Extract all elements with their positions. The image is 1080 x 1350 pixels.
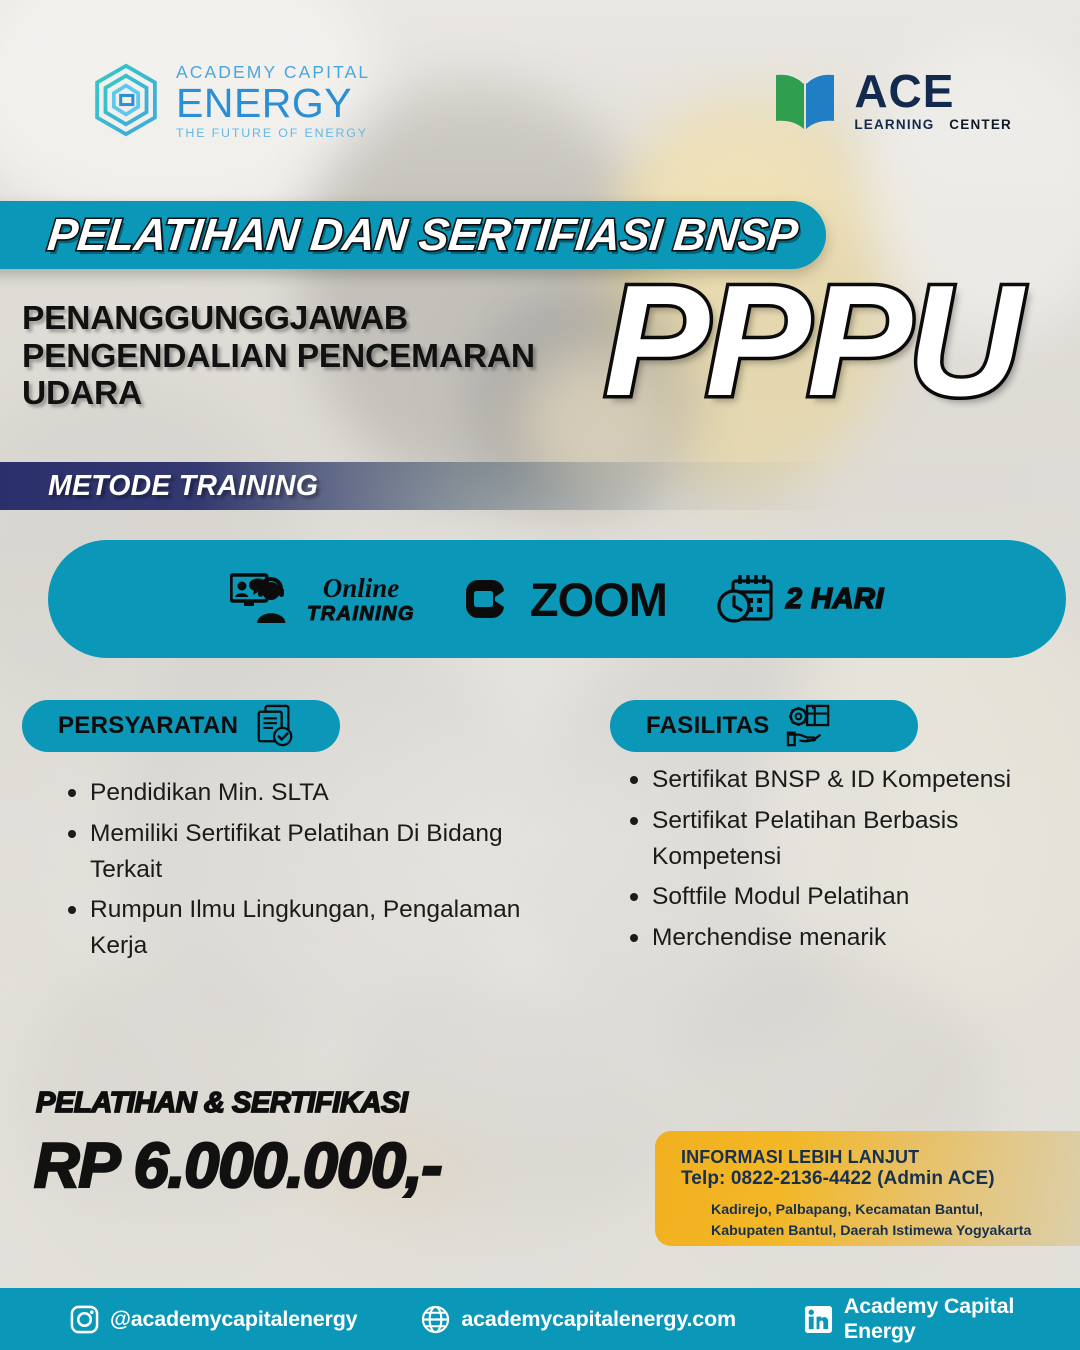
info-address: Kadirejo, Palbapang, Kecamatan Bantul, K… bbox=[681, 1200, 1066, 1241]
ace-wordmark: ACE bbox=[854, 68, 1012, 114]
contact-info-box: INFORMASI LEBIH LANJUT Telp: 0822-2136-4… bbox=[655, 1131, 1080, 1246]
website-url: academycapitalenergy.com bbox=[461, 1307, 735, 1332]
persyaratan-title: PERSYARATAN bbox=[58, 712, 238, 740]
zoom-camera-icon bbox=[465, 577, 519, 621]
fasilitas-header: FASILITAS bbox=[610, 700, 918, 752]
fasilitas-title: FASILITAS bbox=[646, 712, 770, 740]
info-heading: INFORMASI LEBIH LANJUT bbox=[681, 1147, 1066, 1168]
course-acronym: PPPU bbox=[604, 262, 1018, 420]
online-label: Online bbox=[323, 575, 400, 602]
logo-tagline: THE FUTURE OF ENERGY bbox=[176, 127, 370, 139]
price-amount: RP 6.000.000,- bbox=[34, 1130, 441, 1202]
method-pill: Online TRAINING ZOOM bbox=[48, 540, 1066, 658]
hand-gift-gear-icon bbox=[786, 704, 832, 748]
instagram-handle: @academycapitalenergy bbox=[110, 1307, 357, 1332]
globe-icon bbox=[421, 1305, 450, 1334]
academy-capital-energy-logo: ACADEMY CAPITAL ENERGY THE FUTURE OF ENE… bbox=[88, 62, 370, 139]
linkedin-icon bbox=[804, 1305, 833, 1334]
list-item: Sertifikat BNSP & ID Kompetensi bbox=[618, 762, 1080, 798]
instagram-icon bbox=[70, 1305, 99, 1334]
list-item: Merchendise menarik bbox=[618, 920, 1080, 956]
ace-sub-center: CENTER bbox=[949, 117, 1012, 132]
duration-label: 2 HARI bbox=[786, 583, 884, 616]
logo-line-2: ENERGY bbox=[176, 83, 370, 124]
metode-training-bar: METODE TRAINING bbox=[0, 462, 1080, 510]
poster-canvas: ACADEMY CAPITAL ENERGY THE FUTURE OF ENE… bbox=[0, 0, 1080, 1350]
list-item: Pendidikan Min. SLTA bbox=[56, 775, 556, 811]
logo-line-1: ACADEMY CAPITAL bbox=[176, 64, 370, 82]
hexagon-maze-icon bbox=[88, 62, 164, 138]
metode-training-label: METODE TRAINING bbox=[48, 470, 318, 503]
method-duration: 2 HARI bbox=[717, 573, 884, 625]
footer-linkedin[interactable]: Academy Capital Energy bbox=[804, 1294, 1080, 1344]
list-item: Sertifikat Pelatihan Berbasis Kompetensi bbox=[618, 803, 1080, 875]
persyaratan-header: PERSYARATAN bbox=[22, 700, 340, 752]
list-item: Softfile Modul Pelatihan bbox=[618, 879, 1080, 915]
method-zoom: ZOOM bbox=[465, 572, 667, 627]
ace-learning-center-logo: ACE LEARNING CENTER bbox=[770, 68, 1012, 132]
list-item: Memiliki Sertifikat Pelatihan Di Bidang … bbox=[56, 816, 556, 888]
info-phone: Telp: 0822-2136-4422 (Admin ACE) bbox=[681, 1168, 1066, 1191]
online-training-icon bbox=[230, 573, 296, 625]
method-online-training: Online TRAINING bbox=[230, 573, 415, 625]
logo-row: ACADEMY CAPITAL ENERGY THE FUTURE OF ENE… bbox=[0, 0, 1080, 180]
document-check-icon bbox=[254, 704, 296, 748]
price-label: PELATIHAN & SERTIFIKASI bbox=[36, 1087, 408, 1120]
ace-sub-learning: LEARNING bbox=[854, 117, 934, 132]
footer-instagram[interactable]: @academycapitalenergy bbox=[70, 1305, 357, 1334]
address-line-1: Kadirejo, Palbapang, Kecamatan Bantul, bbox=[711, 1200, 1066, 1221]
persyaratan-list: Pendidikan Min. SLTA Memiliki Sertifikat… bbox=[56, 775, 556, 969]
zoom-label: ZOOM bbox=[530, 572, 667, 627]
footer-bar: @academycapitalenergy academycapitalener… bbox=[0, 1288, 1080, 1350]
open-book-icon bbox=[770, 69, 840, 131]
list-item: Rumpun Ilmu Lingkungan, Pengalaman Kerja bbox=[56, 892, 556, 964]
footer-website[interactable]: academycapitalenergy.com bbox=[421, 1305, 735, 1334]
fasilitas-list: Sertifikat BNSP & ID Kompetensi Sertifik… bbox=[618, 762, 1080, 961]
course-subtitle: PENANGGUNGGJAWAB PENGENDALIAN PENCEMARAN… bbox=[22, 300, 622, 413]
calendar-clock-icon bbox=[717, 573, 775, 625]
training-label: TRAINING bbox=[307, 604, 415, 624]
address-line-2: Kabupaten Bantul, Daerah Istimewa Yogyak… bbox=[711, 1221, 1066, 1242]
linkedin-name: Academy Capital Energy bbox=[844, 1294, 1080, 1344]
